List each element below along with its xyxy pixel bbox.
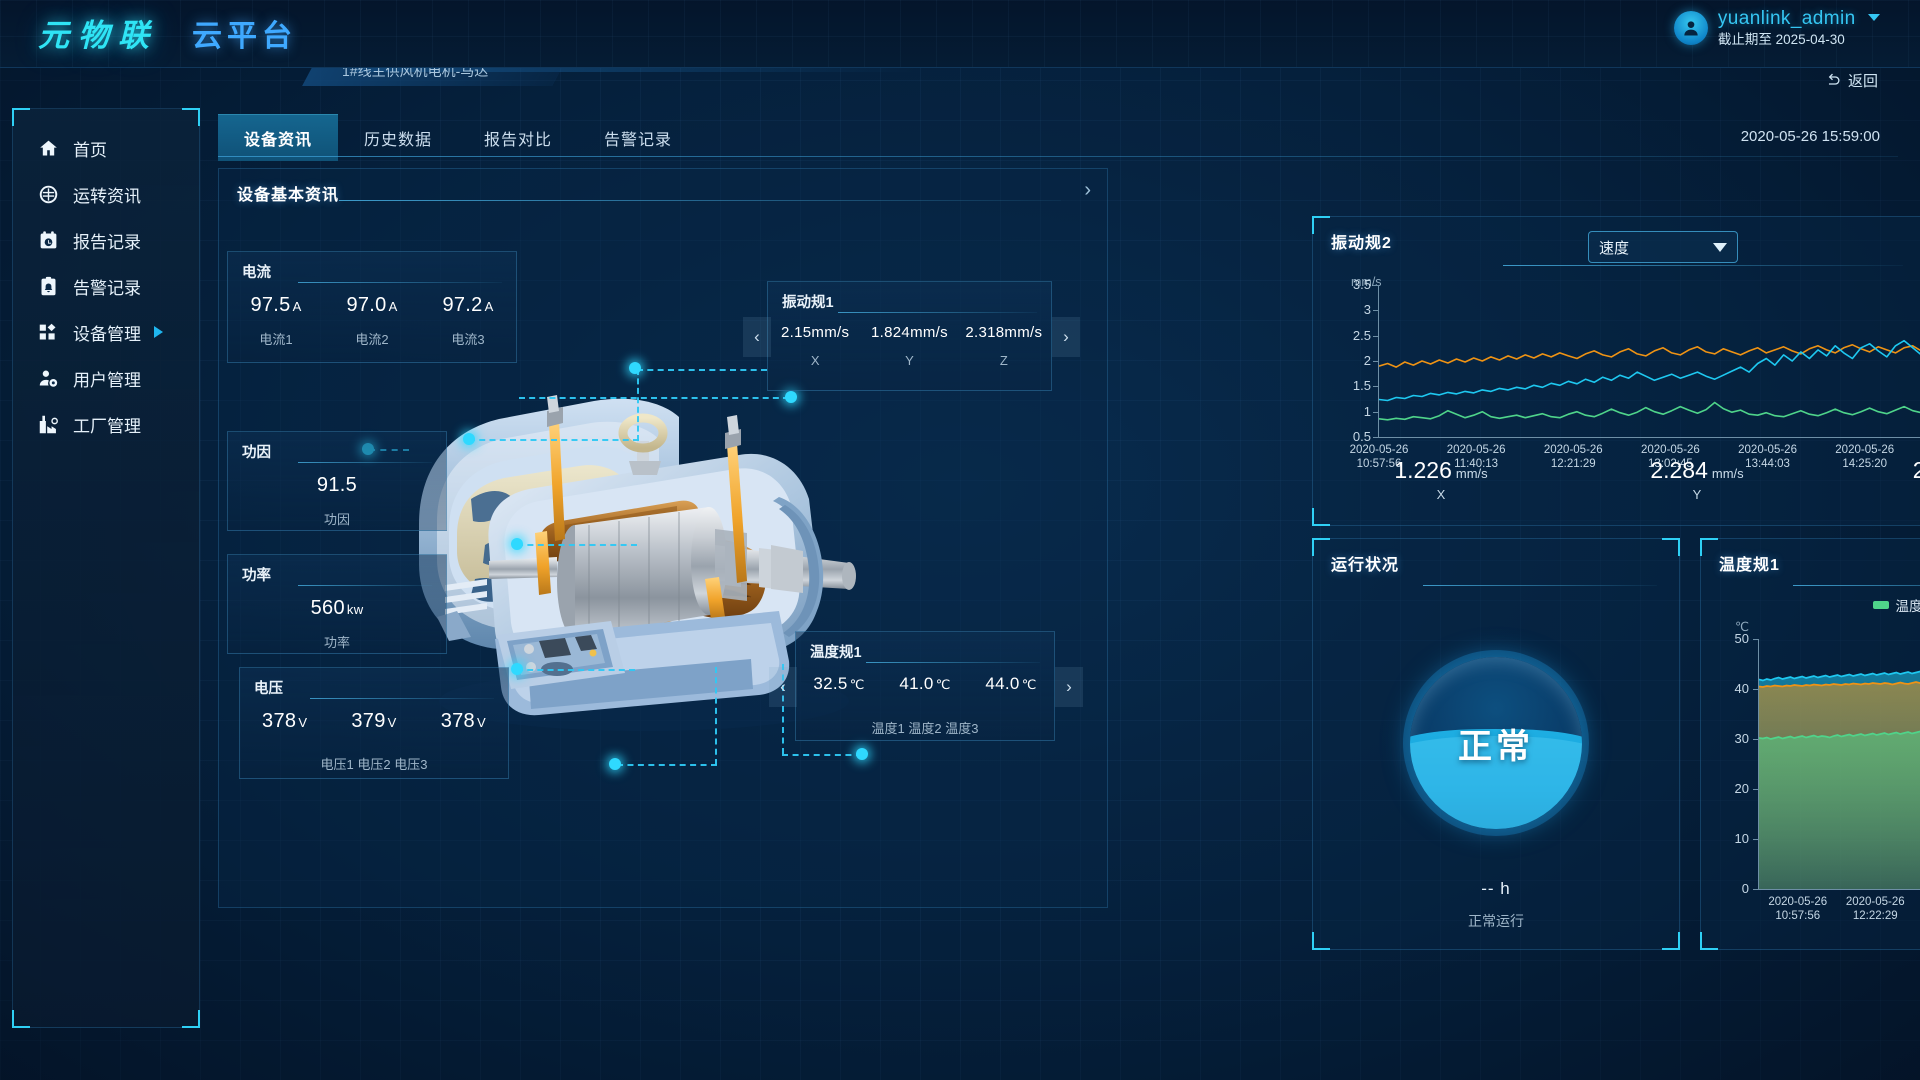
vibration-readout-value-y: 2.284 [1650, 457, 1708, 483]
power-factor-value: 91.5 [228, 474, 446, 497]
chevron-right-icon [154, 326, 163, 338]
sidebar-item-user-management[interactable]: 用户管理 [13, 355, 199, 401]
globe-icon [37, 183, 59, 205]
temperature1-cell-1: 32.5℃ [796, 674, 882, 694]
current-unit: A [485, 299, 494, 314]
main-content: 设备资讯 历史数据 报告对比 告警记录 2020-05-26 15:59:00 … [200, 68, 1920, 1080]
run-state-label: 正常运行 [1313, 911, 1679, 931]
tab-bar: 设备资讯 历史数据 报告对比 告警记录 [218, 114, 698, 161]
corner-decoration [12, 1010, 30, 1028]
vibration1-value-z: 2.318mm/s [957, 324, 1051, 341]
sidebar-item-factory-management[interactable]: 工厂管理 [13, 401, 199, 447]
temperature1-value-3: 44.0℃ [968, 674, 1054, 694]
corner-decoration [1312, 216, 1330, 234]
corner-decoration [1662, 932, 1680, 950]
current-value-3: 97.2A [420, 294, 516, 317]
y-tick: 2.5 [1319, 328, 1371, 343]
temperature1-card-title: 温度规1 [810, 641, 862, 662]
clock: 2020-05-26 15:59:00 [1741, 128, 1880, 145]
user-menu[interactable]: yuanlink_admin 截止期至 2025-04-30 [1674, 8, 1880, 47]
vibration1-label-x: X [768, 353, 862, 368]
dashboard-root: 元物联 云平台 yuanlink_admin 截止期至 2025-04-30 1… [0, 0, 1920, 1080]
power-card: 功率 560kw 功率 [227, 554, 447, 654]
card-rule [298, 282, 502, 283]
equipment-info-panel: 设备基本资讯 › [218, 168, 1108, 908]
vibration1-prev-button[interactable]: ‹ [743, 317, 771, 357]
power-card-title: 功率 [242, 564, 271, 585]
user-gear-icon [37, 367, 59, 389]
connector-dot [609, 758, 621, 770]
legend-item-temp1: 温度1 [1873, 595, 1920, 615]
connector-line [617, 764, 717, 766]
series-x [1379, 403, 1920, 420]
power-factor-card-title: 功因 [242, 441, 271, 462]
vibration-readouts: 1.226mm/s X 2.284mm/s Y 2.95mm/s Z [1313, 457, 1920, 502]
temperature1-unit: ℃ [1022, 677, 1037, 692]
voltage-unit: V [298, 715, 307, 730]
vibration-readout-unit-y: mm/s [1712, 466, 1744, 481]
temperature1-card: 温度规1 32.5℃ 41.0℃ 44.0℃ 温度1 温度2 温度3 [795, 631, 1055, 741]
measurement-type-value: 速度 [1599, 237, 1629, 258]
power-factor-cell: 91.5 功因 [228, 474, 446, 528]
corner-decoration [1312, 538, 1330, 556]
sidebar-item-report-records[interactable]: 报告记录 [13, 217, 199, 263]
voltage-labels: 电压1 电压2 电压3 [240, 754, 508, 773]
card-rule [866, 662, 1040, 663]
y-tick: 30 [1705, 731, 1749, 746]
panel-rule [1423, 585, 1657, 586]
expand-panel-button[interactable]: › [1084, 179, 1091, 202]
temperature1-values: 32.5℃ 41.0℃ 44.0℃ [796, 674, 1054, 694]
y-tick: 1 [1319, 404, 1371, 419]
current-card-title: 电流 [242, 261, 271, 282]
voltage-value-3: 378V [419, 710, 508, 733]
sidebar-item-label: 告警记录 [73, 274, 141, 299]
vibration1-value-x: 2.15mm/s [768, 324, 862, 341]
vibration-chart [1379, 285, 1920, 437]
panel-title: 设备基本资讯 [237, 181, 339, 205]
corner-decoration [1312, 932, 1330, 950]
run-status-panel: 运行状况 正常 -- h 正常运行 [1312, 538, 1680, 950]
home-icon [37, 137, 59, 159]
sidebar-nav: 首页 运转资讯 报告记录 告警记录 [13, 109, 199, 447]
y-tick: 50 [1705, 631, 1749, 646]
connector-dot [785, 391, 797, 403]
series-z [1379, 333, 1920, 400]
run-hours: -- h [1313, 879, 1679, 899]
connector-dot [629, 362, 641, 374]
vibration1-cell-z: 2.318mm/s Z [957, 324, 1051, 368]
voltage-cell-2: 379V [329, 710, 418, 733]
x-tick: 2020-05-2612:22:29 [1830, 895, 1920, 924]
current-cell-3: 97.2A 电流3 [420, 294, 516, 348]
corner-decoration [1700, 538, 1718, 556]
power-factor-card: 功因 91.5 功因 [227, 431, 447, 531]
current-cell-1: 97.5A 电流1 [228, 294, 324, 348]
card-rule [298, 585, 432, 586]
connector-line [519, 397, 789, 399]
temperature1-next-button[interactable]: › [1055, 667, 1083, 707]
vibration-readout-axis-y: Y [1569, 487, 1825, 502]
corner-decoration [182, 108, 200, 126]
connector-line [782, 754, 862, 756]
x-axis-line [1758, 889, 1920, 890]
corner-decoration [1312, 508, 1330, 526]
temperature-chart [1759, 639, 1920, 889]
y-tick: 0 [1705, 881, 1749, 896]
sidebar-item-home[interactable]: 首页 [13, 125, 199, 171]
status-gauge: 正常 [1410, 657, 1582, 829]
vibration-readout-value-x: 1.226 [1394, 457, 1452, 483]
current-unit: A [389, 299, 398, 314]
current-label-1: 电流1 [228, 329, 324, 348]
power-factor-label: 功因 [228, 509, 446, 528]
connector-dot [511, 663, 523, 675]
vibration1-label-z: Z [957, 353, 1051, 368]
logo-sub-text: 云平台 [192, 11, 297, 55]
vibration-readout-axis-z: Z [1825, 487, 1920, 502]
brand-logo[interactable]: 元物联 云平台 [38, 10, 297, 55]
vibration1-label-y: Y [862, 353, 956, 368]
panel-title: 振动规2 [1331, 229, 1392, 253]
y-tick: 10 [1705, 831, 1749, 846]
connector-line [637, 369, 767, 371]
tab-device-info[interactable]: 设备资讯 [218, 114, 338, 161]
power-cell: 560kw 功率 [228, 597, 446, 651]
power-value: 560kw [228, 597, 446, 620]
voltage-unit: V [477, 715, 486, 730]
current-values: 97.5A 电流1 97.0A 电流2 97.2A 电流3 [228, 294, 516, 348]
panel-title: 运行状况 [1331, 551, 1399, 575]
card-rule [838, 312, 1037, 313]
panel-title: 温度规1 [1719, 551, 1780, 575]
connector-line [469, 439, 639, 441]
current-label-2: 电流2 [324, 329, 420, 348]
sidebar-item-label: 首页 [73, 136, 107, 161]
x-axis-line [1378, 437, 1920, 438]
current-value-2: 97.0A [324, 294, 420, 317]
panel-rule [1793, 585, 1920, 586]
series-area-温度1 [1759, 724, 1920, 890]
vibration-readout-axis-x: X [1313, 487, 1569, 502]
panel-rule [1503, 265, 1903, 266]
vibration1-card: 振动规1 2.15mm/s X 1.824mm/s Y 2.318mm/s Z [767, 281, 1052, 391]
tab-report-compare[interactable]: 报告对比 [458, 115, 578, 161]
legend-label-temp1: 温度1 [1895, 595, 1920, 615]
voltage-value-1: 378V [240, 710, 329, 733]
voltage-unit: V [388, 715, 397, 730]
sidebar-item-label: 运转资讯 [73, 182, 141, 207]
chevron-down-icon[interactable] [1868, 14, 1880, 21]
y-tick: 20 [1705, 781, 1749, 796]
connector-dot [463, 433, 475, 445]
voltage-card-title: 电压 [254, 677, 283, 698]
report-clock-icon [37, 229, 59, 251]
temperature1-labels: 温度1 温度2 温度3 [796, 718, 1054, 737]
connector-line [715, 667, 717, 765]
logo-main-text: 元物联 [38, 10, 158, 55]
panel-rule [339, 200, 1061, 201]
x-tick: 2020-05-2613:46:04 [1908, 895, 1920, 924]
vibration1-cell-x: 2.15mm/s X [768, 324, 862, 368]
voltage-card: 电压 378V 379V 378V 电压1 电压2 电压3 [239, 667, 509, 779]
connector-line [517, 544, 637, 546]
temperature1-value-1: 32.5℃ [796, 674, 882, 694]
card-rule [298, 462, 432, 463]
voltage-value-2: 379V [329, 710, 418, 733]
chevron-down-icon [1713, 243, 1727, 252]
current-cell-2: 97.0A 电流2 [324, 294, 420, 348]
current-label-3: 电流3 [420, 329, 516, 348]
vibration-readout-y: 2.284mm/s Y [1569, 457, 1825, 502]
sidebar-item-label: 报告记录 [73, 228, 141, 253]
temperature-legend: 温度1 温度2 温度3 [1873, 595, 1920, 615]
top-bar: 元物联 云平台 yuanlink_admin 截止期至 2025-04-30 [0, 0, 1920, 68]
power-factor-values: 91.5 功因 [228, 474, 446, 528]
tab-alarm-records[interactable]: 告警记录 [578, 115, 698, 161]
factory-icon [37, 413, 59, 435]
sidebar-item-label: 工厂管理 [73, 412, 141, 437]
tab-history-data[interactable]: 历史数据 [338, 115, 458, 161]
vibration-readout-x: 1.226mm/s X [1313, 457, 1569, 502]
status-badge: 正常 [1458, 719, 1534, 768]
y-tick: 0.5 [1319, 429, 1371, 444]
current-card: 电流 97.5A 电流1 97.0A 电流2 97.2A 电流3 [227, 251, 517, 363]
voltage-values: 378V 379V 378V [240, 710, 508, 733]
sidebar-item-alarm-records[interactable]: 告警记录 [13, 263, 199, 309]
y-tick: 1.5 [1319, 378, 1371, 393]
sidebar-item-label: 用户管理 [73, 366, 141, 391]
vibration-readout-value-z: 2.95 [1913, 457, 1920, 483]
legend-swatch-temp1 [1873, 601, 1889, 609]
vibration1-next-button[interactable]: › [1052, 317, 1080, 357]
current-unit: A [293, 299, 302, 314]
alarm-clipboard-icon [37, 275, 59, 297]
grid-blocks-icon [37, 321, 59, 343]
sidebar-item-label: 设备管理 [73, 320, 141, 345]
current-value-1: 97.5A [228, 294, 324, 317]
power-unit: kw [347, 602, 364, 617]
avatar [1674, 11, 1708, 45]
user-expiry: 截止期至 2025-04-30 [1718, 32, 1880, 48]
sidebar: 首页 运转资讯 报告记录 告警记录 [12, 108, 200, 1028]
temperature1-unit: ℃ [850, 677, 865, 692]
vibration2-panel: 振动规2 速度 时域 频域 x y z mm/s 0.511.522.533.5… [1312, 216, 1920, 526]
connector-dot [511, 538, 523, 550]
card-rule [310, 698, 494, 699]
y-tick: 3.5 [1319, 277, 1371, 292]
temperature1-chart-panel: 温度规1 温度1 温度2 温度3 ℃ 01020304050 2020-05-2… [1700, 538, 1920, 950]
y-tick: 3 [1319, 302, 1371, 317]
corner-decoration [182, 1010, 200, 1028]
connector-line [517, 669, 635, 671]
vibration1-cell-y: 1.824mm/s Y [862, 324, 956, 368]
vibration-readout-unit-x: mm/s [1456, 466, 1488, 481]
temperature1-value-2: 41.0℃ [882, 674, 968, 694]
power-label: 功率 [228, 632, 446, 651]
user-name: yuanlink_admin [1718, 8, 1856, 30]
temperature1-cell-2: 41.0℃ [882, 674, 968, 694]
temperature1-cell-3: 44.0℃ [968, 674, 1054, 694]
x-tick: 2020-05-2610:57:56 [1753, 895, 1843, 924]
voltage-cell-3: 378V [419, 710, 508, 733]
corner-decoration [12, 108, 30, 126]
tab-bar-rule [218, 156, 1898, 157]
temperature1-unit: ℃ [936, 677, 951, 692]
voltage-cell-1: 378V [240, 710, 329, 733]
temperature1-prev-button[interactable]: ‹ [769, 667, 797, 707]
measurement-type-select[interactable]: 速度 [1588, 231, 1738, 263]
vibration1-value-y: 1.824mm/s [862, 324, 956, 341]
vibration-readout-z: 2.95mm/s Z [1825, 457, 1920, 502]
vibration1-card-title: 振动规1 [782, 291, 834, 312]
user-info: yuanlink_admin 截止期至 2025-04-30 [1718, 8, 1880, 47]
corner-decoration [1700, 932, 1718, 950]
connector-dot [856, 748, 868, 760]
connector-line [637, 369, 639, 441]
vibration1-values: 2.15mm/s X 1.824mm/s Y 2.318mm/s Z [768, 324, 1051, 368]
sidebar-item-operation-info[interactable]: 运转资讯 [13, 171, 199, 217]
sidebar-item-device-management[interactable]: 设备管理 [13, 309, 199, 355]
y-tick: 40 [1705, 681, 1749, 696]
power-values: 560kw 功率 [228, 597, 446, 651]
y-tick: 2 [1319, 353, 1371, 368]
corner-decoration [1662, 538, 1680, 556]
